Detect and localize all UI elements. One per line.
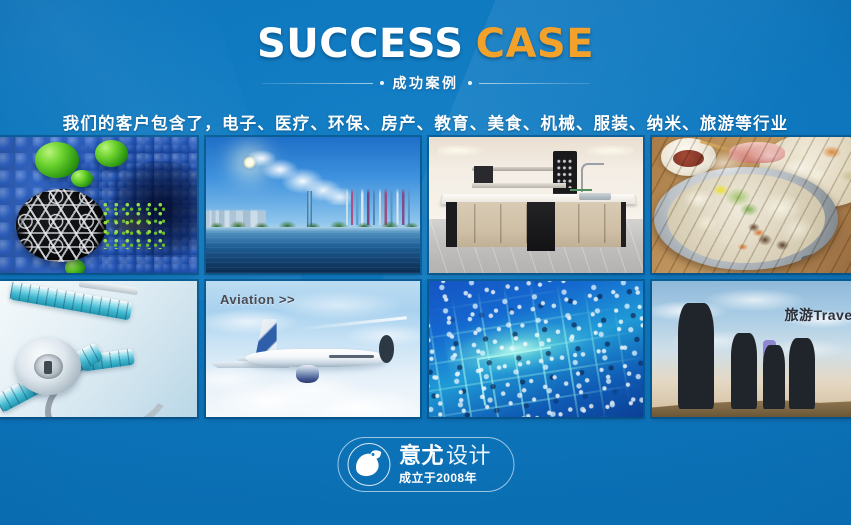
hiker-silhouette bbox=[731, 333, 757, 409]
chopsticks bbox=[700, 139, 750, 156]
sauce-bowl bbox=[661, 138, 717, 176]
brand-text: 意尤 设计 成立于2008年 bbox=[399, 445, 491, 484]
circuit-sparkles bbox=[429, 281, 643, 417]
divider-line-right bbox=[479, 83, 590, 84]
hiker-silhouette bbox=[763, 345, 784, 409]
ceiling-light bbox=[438, 144, 635, 158]
brand-name: 意尤 设计 bbox=[399, 445, 491, 467]
divider-dot-right bbox=[468, 81, 472, 85]
lab-spigot bbox=[570, 189, 591, 191]
nano-green-sphere bbox=[71, 170, 93, 188]
bird-drop-icon bbox=[347, 443, 390, 486]
gallery-item-nanotech[interactable] bbox=[0, 137, 197, 273]
lab-shelf-lower bbox=[472, 183, 566, 188]
plane-engine bbox=[296, 365, 320, 383]
nano-grains bbox=[102, 202, 165, 248]
gallery-item-electronics[interactable] bbox=[429, 281, 643, 417]
page-title: SUCCESSCASE bbox=[0, 24, 851, 64]
gallery-item-food[interactable] bbox=[652, 137, 851, 273]
food-image bbox=[652, 137, 851, 273]
lab-sink bbox=[579, 193, 611, 200]
banner-header: SUCCESSCASE 成功案例 我们的客户包含了，电子、医疗、环保、房产、教育… bbox=[0, 0, 851, 134]
hotpot-handle bbox=[800, 249, 835, 268]
travel-image bbox=[652, 281, 851, 417]
case-gallery: Aviation >> 旅游Travel bbox=[0, 137, 851, 417]
medical-image bbox=[0, 281, 197, 417]
gallery-item-medical[interactable] bbox=[0, 281, 197, 417]
divider-line-left bbox=[262, 83, 373, 84]
nano-green-sphere bbox=[95, 140, 128, 167]
gallery-item-travel[interactable]: 旅游Travel bbox=[652, 281, 851, 417]
brand-established: 成立于2008年 bbox=[399, 472, 491, 484]
bird-eye-dot bbox=[371, 453, 374, 456]
divider-right bbox=[468, 81, 590, 85]
subtitle-row: 成功案例 bbox=[0, 73, 851, 93]
secondary-plate bbox=[759, 137, 851, 208]
aviation-overlay-label: Aviation >> bbox=[220, 292, 295, 307]
page-title-primary: SUCCESS bbox=[257, 21, 464, 67]
electronics-image bbox=[429, 281, 643, 417]
brand-logo[interactable]: 意尤 设计 成立于2008年 bbox=[337, 437, 514, 492]
hiker-silhouette bbox=[678, 303, 714, 409]
water-surface bbox=[206, 227, 420, 273]
divider-dot-left bbox=[380, 81, 384, 85]
divider-left bbox=[262, 81, 384, 85]
page-title-accent: CASE bbox=[476, 21, 594, 67]
meat-plate bbox=[729, 142, 785, 162]
brand-name-light: 设计 bbox=[446, 445, 491, 467]
success-case-banner: SUCCESSCASE 成功案例 我们的客户包含了，电子、医疗、环保、房产、教育… bbox=[0, 0, 851, 525]
hiker-silhouette bbox=[789, 338, 815, 409]
nano-fullerene-icon bbox=[16, 189, 107, 262]
steam bbox=[691, 145, 828, 191]
stethoscope-chestpiece bbox=[16, 338, 81, 395]
page-subtitle: 成功案例 bbox=[393, 73, 459, 93]
plane-fuselage bbox=[245, 349, 386, 367]
gallery-item-laboratory[interactable] bbox=[429, 137, 643, 273]
lab-hood bbox=[474, 166, 493, 185]
plane-nose bbox=[379, 335, 394, 362]
lab-end-panel-left bbox=[446, 202, 457, 247]
lab-end-panel-right bbox=[621, 202, 626, 247]
lab-end-panel-mid bbox=[527, 202, 555, 251]
laboratory-image bbox=[429, 137, 643, 273]
hotpot-contents bbox=[667, 174, 825, 263]
gallery-item-aviation[interactable]: Aviation >> bbox=[206, 281, 420, 417]
environment-image bbox=[206, 137, 420, 273]
nanotech-image bbox=[0, 137, 197, 273]
lab-faucet bbox=[581, 163, 604, 192]
brand-name-strong: 意尤 bbox=[399, 445, 444, 467]
hotpot bbox=[654, 167, 838, 270]
smoke-plume bbox=[249, 148, 352, 205]
travel-overlay-label: 旅游Travel bbox=[785, 305, 851, 325]
gallery-item-environment[interactable] bbox=[206, 137, 420, 273]
industries-text: 我们的客户包含了，电子、医疗、环保、房产、教育、美食、机械、服装、纳米、旅游等行… bbox=[0, 110, 851, 134]
